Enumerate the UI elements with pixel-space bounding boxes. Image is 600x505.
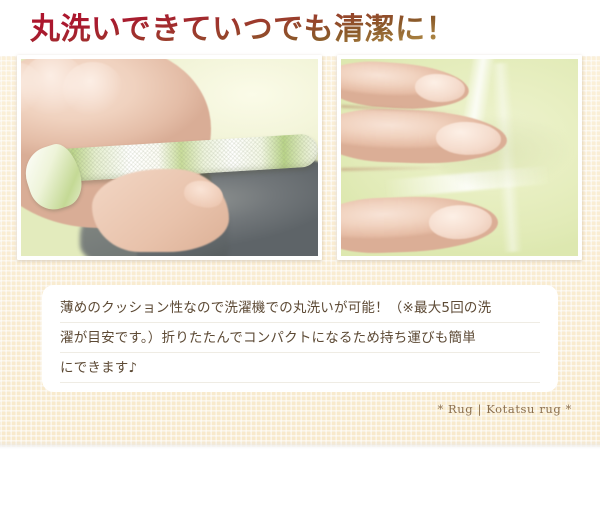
photo-left-image: [21, 59, 318, 256]
page-title: 丸洗いできていつでも清潔に！: [30, 8, 456, 52]
fingernail: [428, 204, 492, 240]
footer-category-note: * Rug | Kotatsu rug *: [0, 402, 572, 416]
knuckle-highlight: [63, 62, 123, 116]
description-line: 濯が目安です。）折りたたんでコンパクトになるため持ち運びも簡単: [60, 323, 540, 353]
photo-fingers-pressing-fabric: [337, 55, 582, 260]
description-card: 薄めのクッション性なので洗濯機での丸洗いが可能！（※最大5回の洗 濯が目安です。…: [42, 285, 558, 392]
promo-page: 丸洗いできていつでも清潔に！: [0, 0, 600, 505]
description-line: にできます♪: [60, 353, 540, 383]
photo-right-image: [341, 59, 578, 256]
background-bottom-fade: [0, 441, 600, 449]
photo-hand-lifting-rug-edge: [17, 55, 322, 260]
fingernail: [436, 121, 502, 156]
fingernail: [414, 72, 466, 103]
description-line: 薄めのクッション性なので洗濯機での丸洗いが可能！（※最大5回の洗: [60, 293, 540, 323]
